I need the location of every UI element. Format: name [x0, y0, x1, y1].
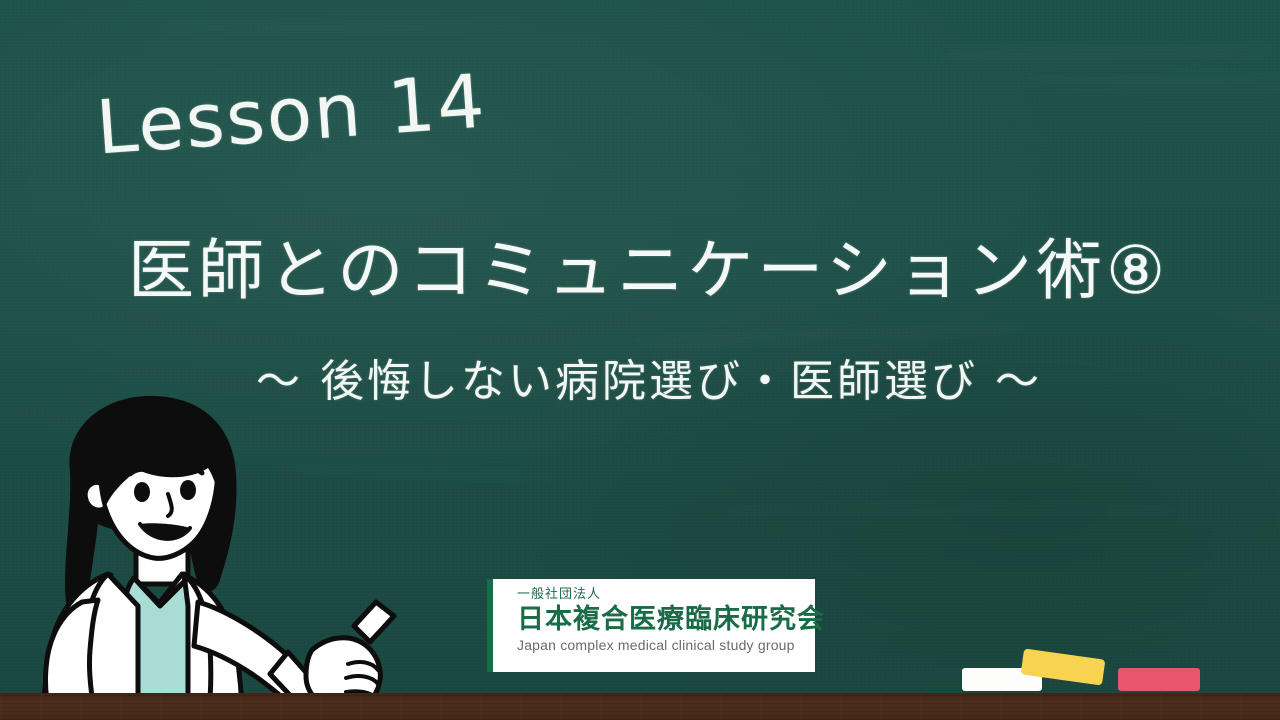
doctor-illustration — [12, 388, 432, 720]
organization-logo-card: 一般社団法人 日本複合医療臨床研究会 Japan complex medical… — [487, 579, 815, 672]
slide-title: 医師とのコミュニケーション術⑧ — [128, 236, 1188, 306]
chalk-ledge — [0, 693, 1280, 720]
chalk-smudge — [150, 25, 480, 31]
ledge-wood-grain — [0, 693, 1280, 720]
logo-kicker: 一般社団法人 — [517, 588, 815, 601]
logo-name-en: Japan complex medical clinical study gro… — [517, 638, 815, 652]
slide-root: Lesson 14 医師とのコミュニケーション術⑧ 〜 後悔しない病院選び・医師… — [0, 0, 1280, 720]
red-chalk-stick — [1118, 668, 1200, 691]
logo-name-ja: 日本複合医療臨床研究会 — [517, 606, 815, 634]
chalk-smudge — [700, 505, 1200, 515]
